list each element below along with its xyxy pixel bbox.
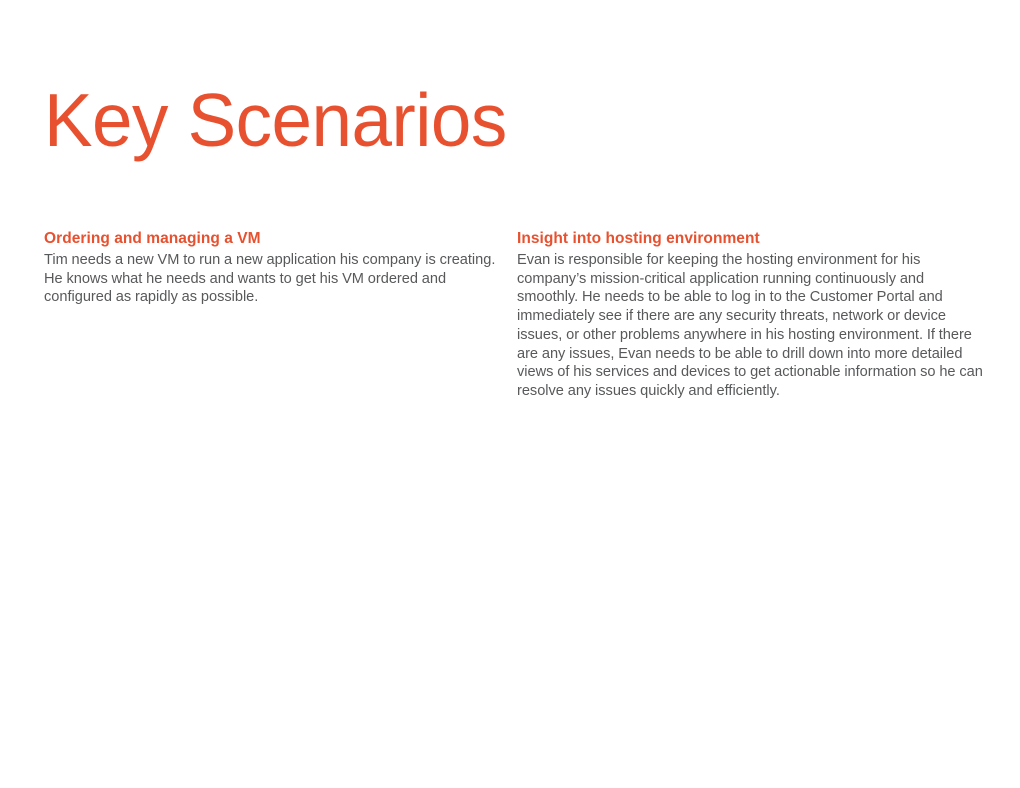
scenario-heading: Insight into hosting environment <box>517 229 985 248</box>
scenario-heading: Ordering and managing a VM <box>44 229 501 248</box>
slide-canvas: Key Scenarios Ordering and managing a VM… <box>0 0 1020 788</box>
scenario-body-text: Tim needs a new VM to run a new applicat… <box>44 251 501 307</box>
page-title: Key Scenarios <box>44 83 507 158</box>
scenario-column-insight-into-hosting-environment: Insight into hosting environment Evan is… <box>517 229 985 401</box>
scenario-column-ordering-and-managing-a-vm: Ordering and managing a VM Tim needs a n… <box>44 229 501 307</box>
scenario-body-text: Evan is responsible for keeping the host… <box>517 251 985 401</box>
